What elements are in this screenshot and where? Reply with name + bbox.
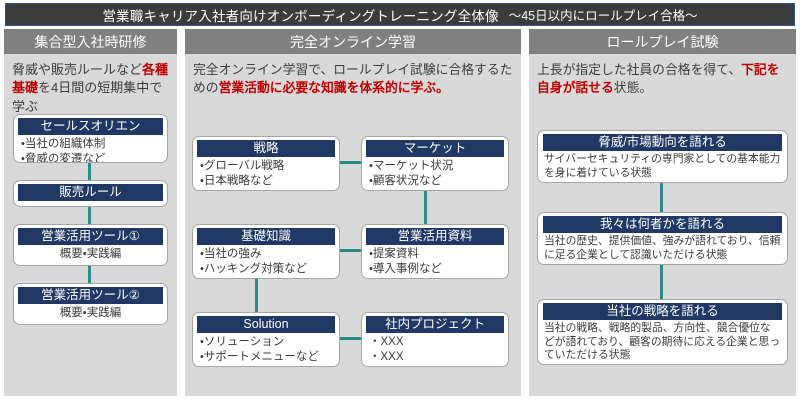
node-box[interactable]: セールスオリエン 当社の組織体制 脅威の変遷など [13,114,168,163]
node-box[interactable]: 営業活用ツール① 概要・実践編 [13,224,168,266]
column-full-online-learning: 完全オンライン学習 完全オンライン学習で、ロールプレイ試験に合格するための営業活… [185,29,521,396]
lead-part: 完全オンライン学習で、ロールプレイ試 [193,62,423,77]
column-lead-full-online-learning: 完全オンライン学習で、ロールプレイ試験に合格するための営業活動に必要な知識を体系… [185,54,521,97]
node-box[interactable]: 基礎知識 当社の強み ハッキング対策など [192,224,340,279]
node-box-title: 当社の戦略を語れる [543,303,782,320]
node-box[interactable]: 販売ルール [13,180,168,207]
node-box-title: 社内プロジェクト [366,316,504,333]
connector-vertical [88,207,91,224]
node-box-list: ソリューション サポートメニューなど [193,333,339,364]
lead-part: 状態。 [614,80,652,95]
node-box-title: 我々は何者かを語れる [543,216,782,233]
node-box[interactable]: 営業活用資料 提案資料 導入事例など [361,224,509,279]
connector-horizontal [340,249,361,252]
connector-horizontal [340,337,361,340]
node-box-description: 当社の戦略、戦略的製品、方向性、競合優位などが語れており、顧客の期待に応える企業… [538,320,787,363]
node-box-list: 当社の強み ハッキング対策など [193,245,339,276]
column-lead-roleplay-exam: 上長が指定した社員の合格を得て、下記を自身が話せる状態。 [529,54,796,97]
column-roleplay-exam: ロールプレイ試験 上長が指定した社員の合格を得て、下記を自身が話せる状態。 脅威… [529,29,796,396]
node-box-list: グローバル戦略 日本戦略など [193,157,339,188]
page-title-bar: 営業職キャリア入社者向けオンボーディングトレーニング全体像 ～45日以内にロール… [5,3,795,26]
node-box-title: 脅威/市場動向を語れる [543,134,782,151]
lead-part: 脅威や販売ルールな [12,62,129,77]
node-box-title: マーケット [366,140,504,157]
column-header-collective-training: 集合型入社時研修 [4,29,177,54]
column-body-full-online-learning: 完全オンライン学習で、ロールプレイ試験に合格するための営業活動に必要な知識を体系… [185,54,521,396]
connector-vertical [424,191,427,224]
list-item: サポートメニューなど [200,350,339,365]
lead-part: 上長が指定した社員の合格を得て、 [537,62,741,77]
page-title: 営業職キャリア入社者向けオンボーディングトレーニング全体像 [102,5,498,25]
list-item: 導入事例など [369,262,508,277]
list-item: XXX [369,350,508,365]
node-box-title: 戦略 [197,140,335,157]
column-body-collective-training: 脅威や販売ルールなど各種基礎を4日間の短期集中で学ぶ セールスオリエン 当社の組… [4,54,177,396]
column-header-roleplay-exam: ロールプレイ試験 [529,29,796,54]
lead-highlight: 識を体系的に学ぶ。 [334,80,449,95]
list-item: ハッキング対策など [200,262,339,277]
node-box-title: 基礎知識 [197,228,335,245]
list-item: グローバル戦略 [200,159,339,174]
node-box[interactable]: 社内プロジェクト XXX XXX [361,312,509,367]
connector-vertical [88,163,91,180]
node-box-list: XXX XXX [362,333,508,364]
lead-highlight: 営業活動に必要な知 [219,80,334,95]
node-box-list: 当社の組織体制 脅威の変遷など [14,135,167,163]
column-body-roleplay-exam: 上長が指定した社員の合格を得て、下記を自身が話せる状態。 脅威/市場動向を語れる… [529,54,796,396]
node-box[interactable]: 我々は何者かを語れる 当社の歴史、提供価値、強みが語れており、信頼に足る企業とし… [537,212,788,265]
node-box-subtitle: 概要・実践編 [14,304,167,321]
list-item: 当社の組織体制 [21,137,167,152]
node-box[interactable]: Solution ソリューション サポートメニューなど [192,312,340,367]
connector-vertical [660,183,663,212]
node-box[interactable]: マーケット マーケット状況 顧客状況など [361,136,509,191]
list-item: 脅威の変遷など [21,152,167,164]
node-box[interactable]: 脅威/市場動向を語れる サイバーセキュリティの専門家としての基本能力を身に着けて… [537,130,788,183]
connector-vertical [660,265,663,299]
list-item: 日本戦略など [200,174,339,189]
list-item: 当社の強み [200,247,339,262]
node-box-title: 営業活用ツール② [18,287,163,304]
lead-part: を4日間 [38,80,84,95]
node-box-title: セールスオリエン [18,118,163,135]
list-item: ソリューション [200,335,339,350]
node-box[interactable]: 戦略 グローバル戦略 日本戦略など [192,136,340,191]
node-box-title: 営業活用資料 [366,228,504,245]
list-item: マーケット状況 [369,159,508,174]
node-box-title: 営業活用ツール① [18,228,163,245]
node-box-description: サイバーセキュリティの専門家としての基本能力を身に着けている状態 [538,151,787,180]
node-box-list: マーケット状況 顧客状況など [362,157,508,188]
node-box[interactable]: 営業活用ツール② 概要・実践編 [13,283,168,325]
columns-container: 集合型入社時研修 脅威や販売ルールなど各種基礎を4日間の短期集中で学ぶ セールス… [0,29,800,400]
connector-vertical [255,279,258,312]
page-subtitle: ～45日以内にロールプレイ合格～ [509,5,698,24]
lead-part: ど [129,62,142,77]
node-box-subtitle: 概要・実践編 [14,245,167,262]
column-header-full-online-learning: 完全オンライン学習 [185,29,521,54]
node-box-description: 当社の歴史、提供価値、強みが語れており、信頼に足る企業として認識いただける状態 [538,233,787,262]
list-item: XXX [369,335,508,350]
list-item: 提案資料 [369,247,508,262]
column-lead-collective-training: 脅威や販売ルールなど各種基礎を4日間の短期集中で学ぶ [4,54,177,116]
column-collective-training: 集合型入社時研修 脅威や販売ルールなど各種基礎を4日間の短期集中で学ぶ セールス… [4,29,177,396]
node-box-title: Solution [197,316,335,333]
node-box-list: 提案資料 導入事例など [362,245,508,276]
list-item: 顧客状況など [369,174,508,189]
node-box-title: 販売ルール [18,184,163,201]
connector-horizontal [340,161,361,164]
node-box[interactable]: 当社の戦略を語れる 当社の戦略、戦略的製品、方向性、競合優位などが語れており、顧… [537,299,788,365]
connector-vertical [88,266,91,283]
